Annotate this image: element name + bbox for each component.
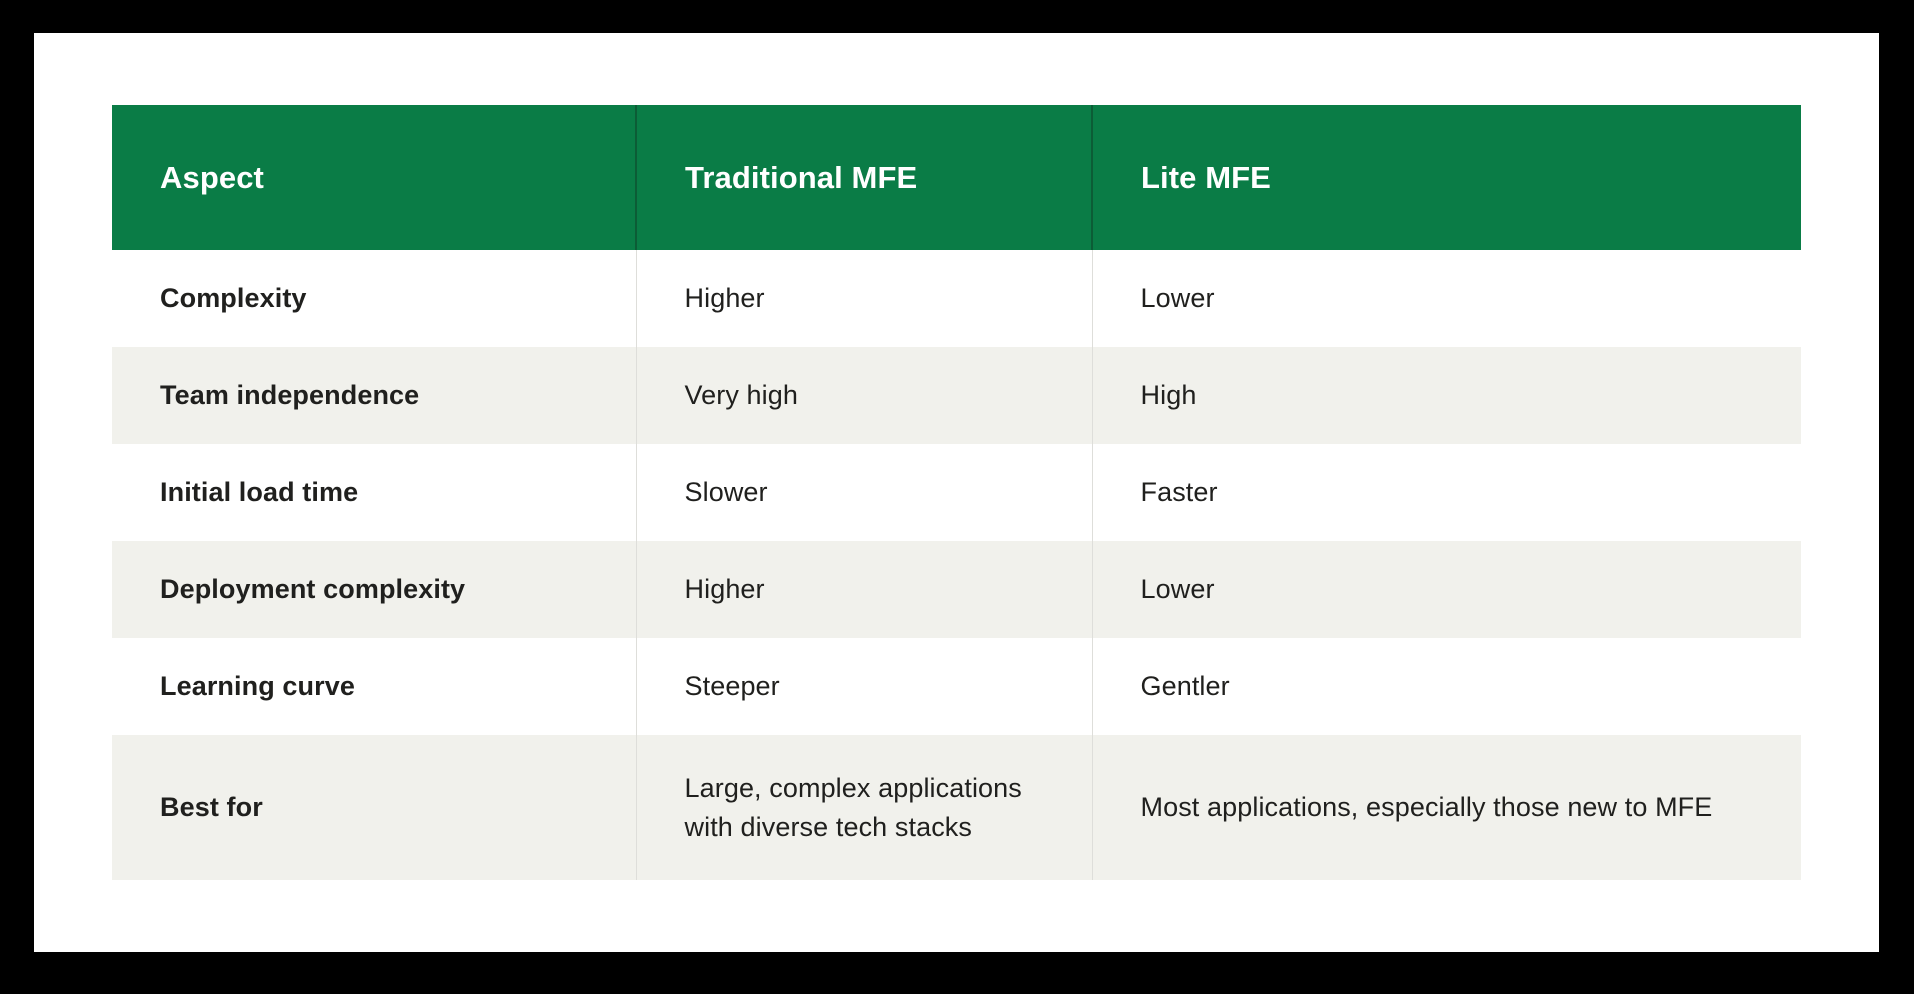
comparison-table: Aspect Traditional MFE Lite MFE Complexi…: [112, 105, 1801, 880]
cell-aspect: Initial load time: [112, 444, 636, 541]
cell-lite: Lower: [1092, 541, 1801, 638]
column-header-aspect: Aspect: [112, 105, 636, 250]
cell-aspect: Deployment complexity: [112, 541, 636, 638]
cell-aspect: Complexity: [112, 250, 636, 347]
cell-lite: Lower: [1092, 250, 1801, 347]
cell-traditional: Higher: [636, 541, 1092, 638]
table-row: Learning curve Steeper Gentler: [112, 638, 1801, 735]
table-row: Best for Large, complex applications wit…: [112, 735, 1801, 880]
table-header-row: Aspect Traditional MFE Lite MFE: [112, 105, 1801, 250]
column-header-lite-mfe: Lite MFE: [1092, 105, 1801, 250]
column-header-traditional-mfe: Traditional MFE: [636, 105, 1092, 250]
cell-lite: Faster: [1092, 444, 1801, 541]
cell-lite: Most applications, especially those new …: [1092, 735, 1801, 880]
cell-traditional: Large, complex applications with diverse…: [636, 735, 1092, 880]
table-header: Aspect Traditional MFE Lite MFE: [112, 105, 1801, 250]
cell-traditional: Slower: [636, 444, 1092, 541]
cell-traditional: Very high: [636, 347, 1092, 444]
cell-lite: High: [1092, 347, 1801, 444]
cell-traditional: Steeper: [636, 638, 1092, 735]
page-card: Aspect Traditional MFE Lite MFE Complexi…: [34, 33, 1879, 952]
table-row: Deployment complexity Higher Lower: [112, 541, 1801, 638]
table-body: Complexity Higher Lower Team independenc…: [112, 250, 1801, 880]
table-row: Team independence Very high High: [112, 347, 1801, 444]
table-row: Initial load time Slower Faster: [112, 444, 1801, 541]
cell-aspect: Best for: [112, 735, 636, 880]
cell-aspect: Team independence: [112, 347, 636, 444]
cell-traditional: Higher: [636, 250, 1092, 347]
cell-aspect: Learning curve: [112, 638, 636, 735]
table-row: Complexity Higher Lower: [112, 250, 1801, 347]
cell-lite: Gentler: [1092, 638, 1801, 735]
